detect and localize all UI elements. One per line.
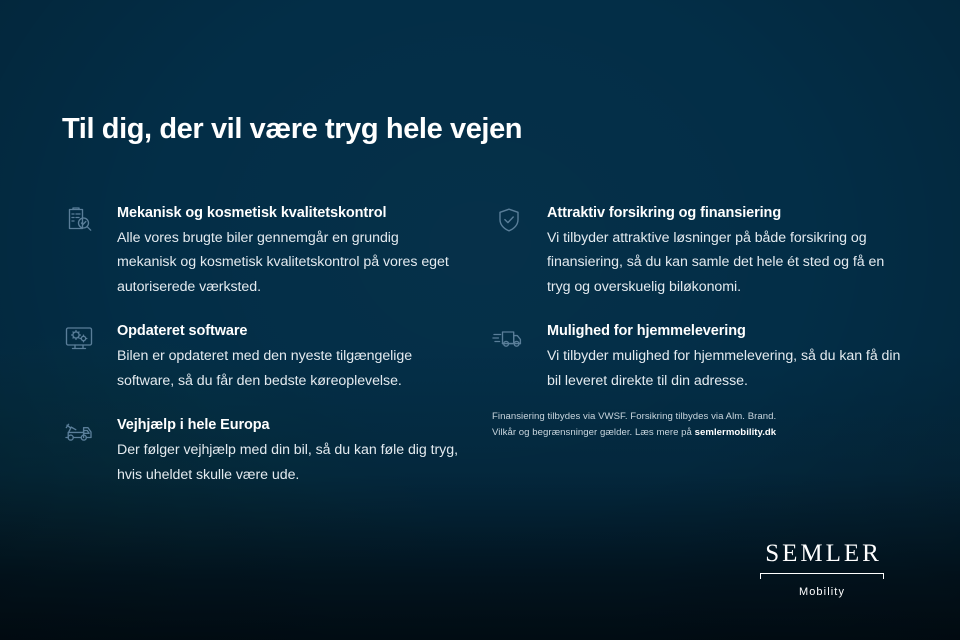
feature-item-updated-software: Opdateret software Bilen er opdateret me…	[62, 321, 462, 393]
semler-mobility-logo: SEMLER Mobility	[742, 541, 902, 598]
logo-wordmark: SEMLER	[742, 541, 902, 566]
feature-text: Mulighed for hjemmelevering Vi tilbyder …	[530, 321, 902, 393]
monitor-gears-icon	[62, 321, 100, 355]
shield-check-icon	[492, 203, 530, 237]
page-title: Til dig, der vil være tryg hele vejen	[62, 113, 522, 146]
disclaimer-line-2: Vilkår og begrænsninger gælder. Læs mere…	[492, 425, 892, 441]
feature-description: Bilen er opdateret med den nyeste tilgæn…	[117, 344, 462, 393]
feature-description: Der følger vejhjælp med din bil, så du k…	[117, 438, 462, 487]
feature-item-home-delivery: Mulighed for hjemmelevering Vi tilbyder …	[492, 321, 902, 393]
feature-title: Attraktiv forsikring og finansiering	[547, 203, 902, 224]
delivery-van-icon	[492, 321, 530, 355]
disclaimer-website-link[interactable]: semlermobility.dk	[695, 427, 777, 438]
feature-column-left: Mekanisk og kosmetisk kvalitetskontrol A…	[62, 203, 462, 487]
feature-text: Mekanisk og kosmetisk kvalitetskontrol A…	[100, 203, 462, 299]
feature-text: Vejhjælp i hele Europa Der følger vejhjæ…	[100, 415, 462, 487]
disclaimer-text: Finansiering tilbydes via VWSF. Forsikri…	[492, 409, 892, 440]
feature-item-quality-control: Mekanisk og kosmetisk kvalitetskontrol A…	[62, 203, 462, 299]
slide-root: Til dig, der vil være tryg hele vejen Me…	[0, 0, 960, 640]
feature-title: Mekanisk og kosmetisk kvalitetskontrol	[117, 203, 462, 224]
tow-truck-icon	[62, 415, 100, 449]
logo-bracket-rule	[742, 573, 902, 582]
feature-column-right: Attraktiv forsikring og finansiering Vi …	[492, 203, 902, 393]
feature-item-roadside-assistance: Vejhjælp i hele Europa Der følger vejhjæ…	[62, 415, 462, 487]
feature-title: Mulighed for hjemmelevering	[547, 321, 902, 342]
logo-subtitle: Mobility	[742, 586, 902, 598]
feature-description: Alle vores brugte biler gennemgår en gru…	[117, 226, 462, 299]
feature-text: Attraktiv forsikring og finansiering Vi …	[530, 203, 902, 299]
disclaimer-line-2-prefix: Vilkår og begrænsninger gælder. Læs mere…	[492, 427, 695, 438]
clipboard-magnifier-icon	[62, 203, 100, 237]
feature-item-insurance-financing: Attraktiv forsikring og finansiering Vi …	[492, 203, 902, 299]
feature-text: Opdateret software Bilen er opdateret me…	[100, 321, 462, 393]
disclaimer-line-1: Finansiering tilbydes via VWSF. Forsikri…	[492, 409, 892, 425]
feature-description: Vi tilbyder mulighed for hjemmelevering,…	[547, 344, 902, 393]
feature-title: Vejhjælp i hele Europa	[117, 415, 462, 436]
feature-title: Opdateret software	[117, 321, 462, 342]
feature-description: Vi tilbyder attraktive løsninger på både…	[547, 226, 902, 299]
